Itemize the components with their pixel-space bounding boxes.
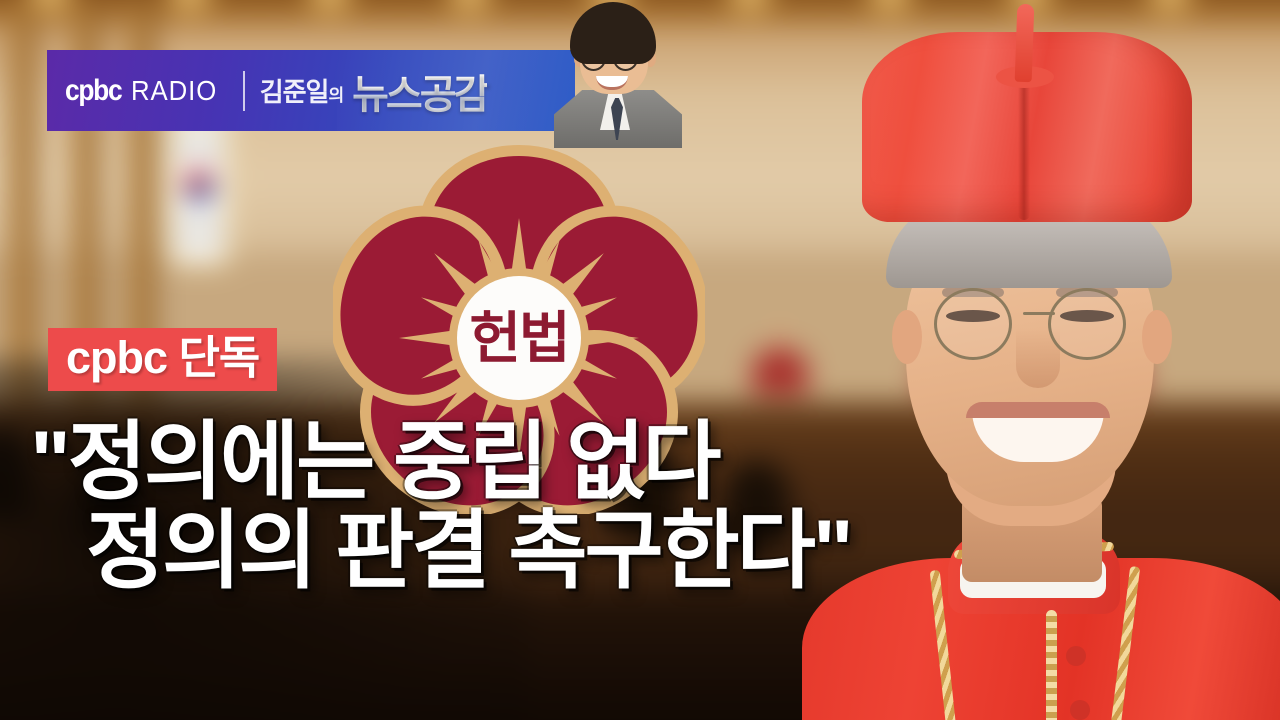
headline-line-2: 정의의 판결 촉구한다" [30,507,1060,596]
cassock-button [1066,646,1086,666]
taeguk-symbol [184,171,214,201]
exclusive-badge: cpbc 단독 [48,328,277,391]
cassock-button [1070,700,1090,720]
thumbnail-canvas: 헌법 cpbc RADIO [0,0,1280,720]
headline-line-1: "정의에는 중립 없다 [30,418,1060,507]
host-hair [570,2,656,64]
cardinal-portrait [820,10,1280,720]
radio-label: RADIO [131,75,217,107]
flag-cloth [170,114,228,264]
emblem-center-label: 헌법 [469,307,568,370]
cardinal-ear [892,310,922,364]
eyeglasses-bridge [1023,312,1055,315]
biretta-tuft [1015,4,1035,83]
headline: "정의에는 중립 없다 정의의 판결 촉구한다" [30,418,1060,597]
cpbc-logo-text: cpbc [65,74,121,108]
program-banner: cpbc RADIO 김준일의 뉴스공감 [47,50,575,131]
cardinal-upper-lip [966,402,1110,418]
cardinal-ear [1142,310,1172,364]
seated-judge [752,326,808,398]
banner-separator [243,71,245,111]
eyeglasses-lens [1048,288,1126,360]
cardinal-cord [1046,610,1057,720]
host-photo [548,0,688,143]
show-title: 뉴스공감 [352,62,487,120]
eyeglasses-lens [934,288,1012,360]
host-name-label: 김준일의 [260,72,343,109]
